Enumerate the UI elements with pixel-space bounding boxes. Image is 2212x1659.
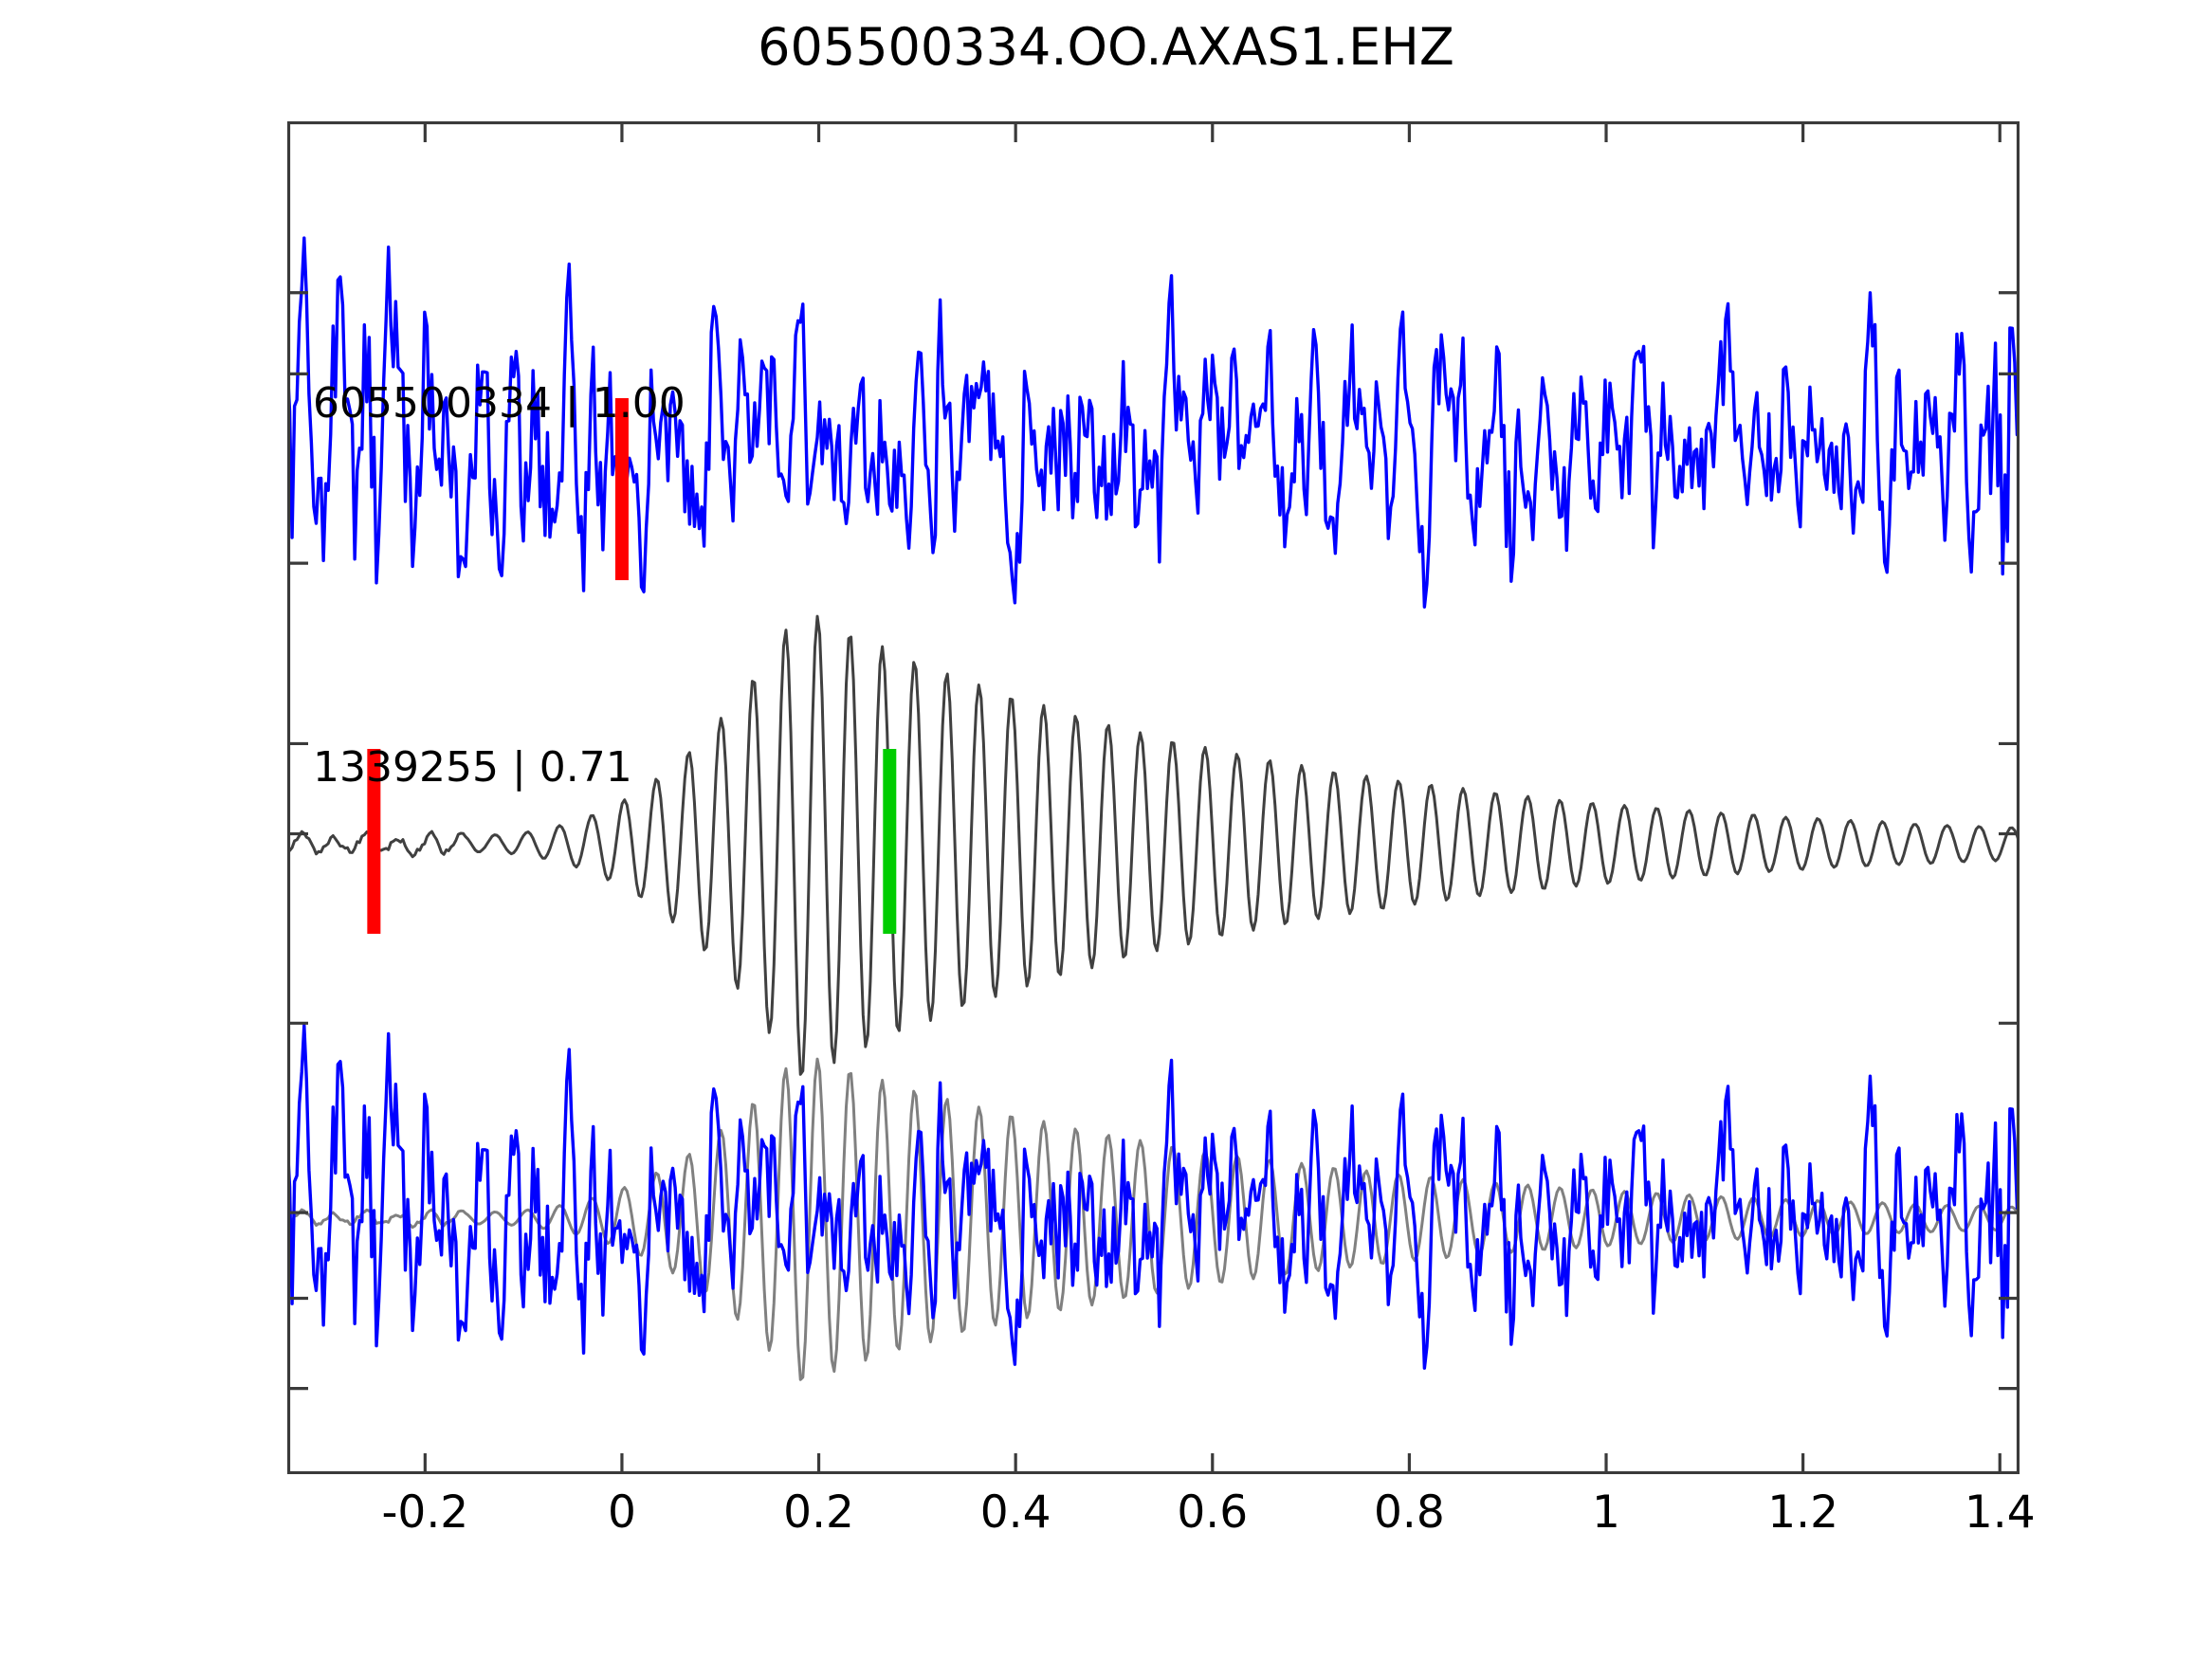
x-tick-label-6: 1 [1592, 1486, 1620, 1539]
pick-marker-s-middle[interactable] [883, 749, 896, 934]
x-tick-label-4: 0.6 [1177, 1486, 1248, 1539]
page-title: 605500334.OO.AXAS1.EHZ [0, 17, 2212, 77]
detection-label: 605500334 | 1.00 [313, 379, 686, 428]
x-axis-tick-labels: -0.200.20.40.60.811.21.4 [287, 1486, 2020, 1553]
x-tick-label-7: 1.2 [1767, 1486, 1838, 1539]
plot-svg [287, 121, 2020, 1474]
x-tick-label-2: 0.2 [783, 1486, 854, 1539]
x-tick-label-3: 0.4 [980, 1486, 1051, 1539]
detection-waveform-bottom [287, 1026, 2020, 1369]
template-waveform-middle [287, 616, 2020, 1074]
x-tick-label-1: 0 [608, 1486, 636, 1539]
template-label: 1339255 | 0.71 [313, 743, 632, 792]
figure-root: 605500334.OO.AXAS1.EHZ -0.200.20.40.60.8… [0, 0, 2212, 1659]
x-tick-label-0: -0.2 [381, 1486, 468, 1539]
plot-area [287, 121, 2020, 1474]
x-tick-label-5: 0.8 [1374, 1486, 1445, 1539]
x-tick-label-8: 1.4 [1965, 1486, 2036, 1539]
